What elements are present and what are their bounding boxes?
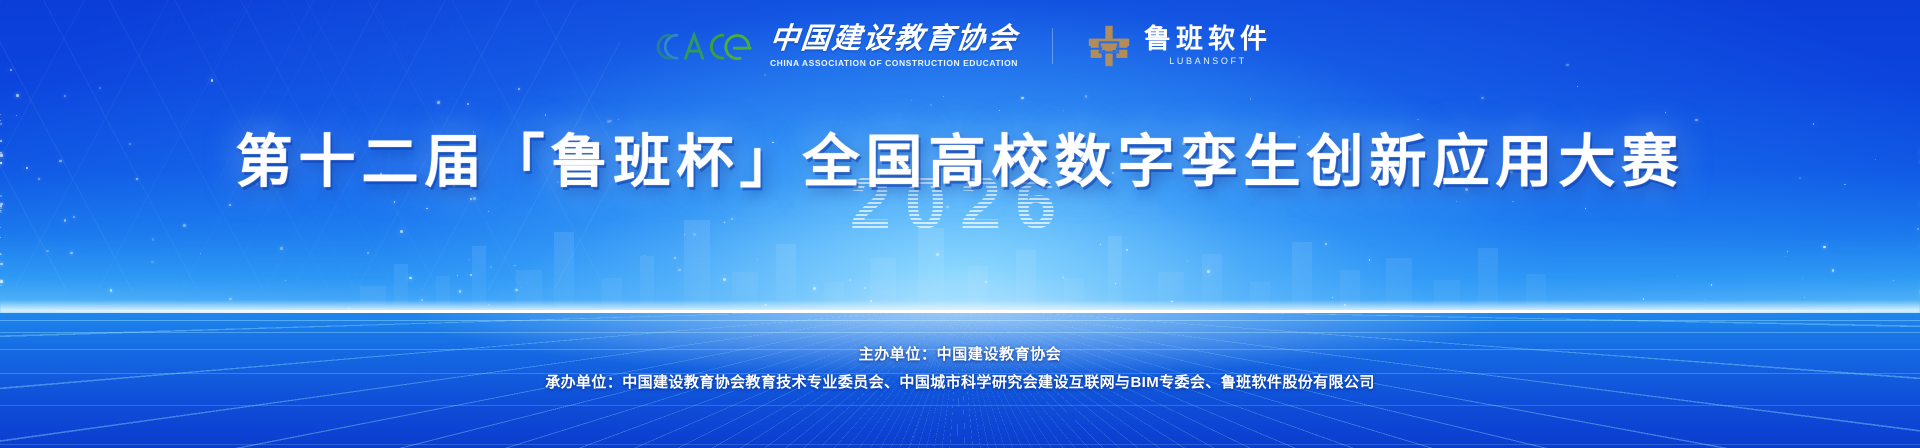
horizon-glow: [0, 300, 1920, 326]
company-name-cn: 鲁班软件: [1144, 26, 1272, 53]
association-name-en: CHINA ASSOCIATION OF CONSTRUCTION EDUCAT…: [770, 59, 1018, 68]
page-title: 第十二届「鲁班杯」全国高校数字孪生创新应用大赛: [0, 134, 1920, 191]
lubansoft-logo-icon: [1087, 24, 1131, 68]
association-logo: 中国建设教育协会 CHINA ASSOCIATION OF CONSTRUCTI…: [648, 25, 1018, 68]
logo-row: 中国建设教育协会 CHINA ASSOCIATION OF CONSTRUCTI…: [0, 18, 1920, 74]
competition-banner: 2026 中国建设教育协会 CHINA: [0, 0, 1920, 448]
cace-logo-icon: [648, 26, 756, 66]
association-name-cn: 中国建设教育协会: [768, 25, 1019, 54]
association-wordmark: 中国建设教育协会 CHINA ASSOCIATION OF CONSTRUCTI…: [770, 25, 1018, 68]
company-logo: 鲁班软件 LUBANSOFT: [1087, 24, 1272, 68]
organizing-units: 承办单位：中国建设教育协会教育技术专业委员会、中国城市科学研究会建设互联网与BI…: [0, 372, 1920, 394]
company-wordmark: 鲁班软件 LUBANSOFT: [1144, 26, 1272, 66]
horizon-line: [0, 310, 1920, 313]
host-organization: 主办单位：中国建设教育协会: [0, 344, 1920, 366]
logo-divider: [1052, 28, 1053, 64]
company-name-en: LUBANSOFT: [1144, 57, 1272, 66]
credits-block: 主办单位：中国建设教育协会 承办单位：中国建设教育协会教育技术专业委员会、中国城…: [0, 344, 1920, 394]
